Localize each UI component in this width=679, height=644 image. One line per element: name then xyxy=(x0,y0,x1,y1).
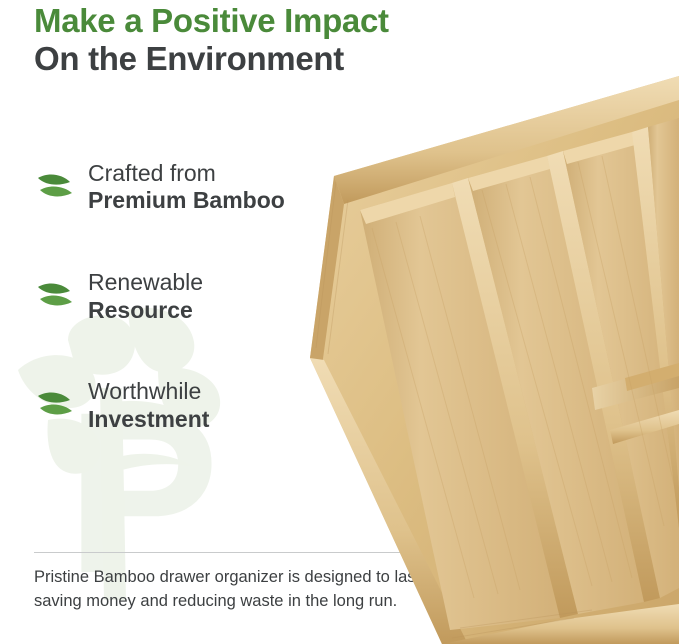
headline-line-1: Make a Positive Impact xyxy=(34,4,554,39)
product-infographic-page: Make a Positive Impact On the Environmen… xyxy=(0,0,679,644)
bamboo-leaf-icon xyxy=(36,388,78,418)
feature-list: Crafted from Premium Bamboo Renewable Re… xyxy=(36,160,336,488)
bamboo-leaf-icon xyxy=(36,279,78,309)
bamboo-drawer-organizer-photo xyxy=(292,58,679,644)
list-item: Crafted from Premium Bamboo xyxy=(36,160,336,215)
list-item: Worthwhile Investment xyxy=(36,378,336,433)
bamboo-leaf-icon xyxy=(36,170,78,200)
list-item: Renewable Resource xyxy=(36,269,336,324)
